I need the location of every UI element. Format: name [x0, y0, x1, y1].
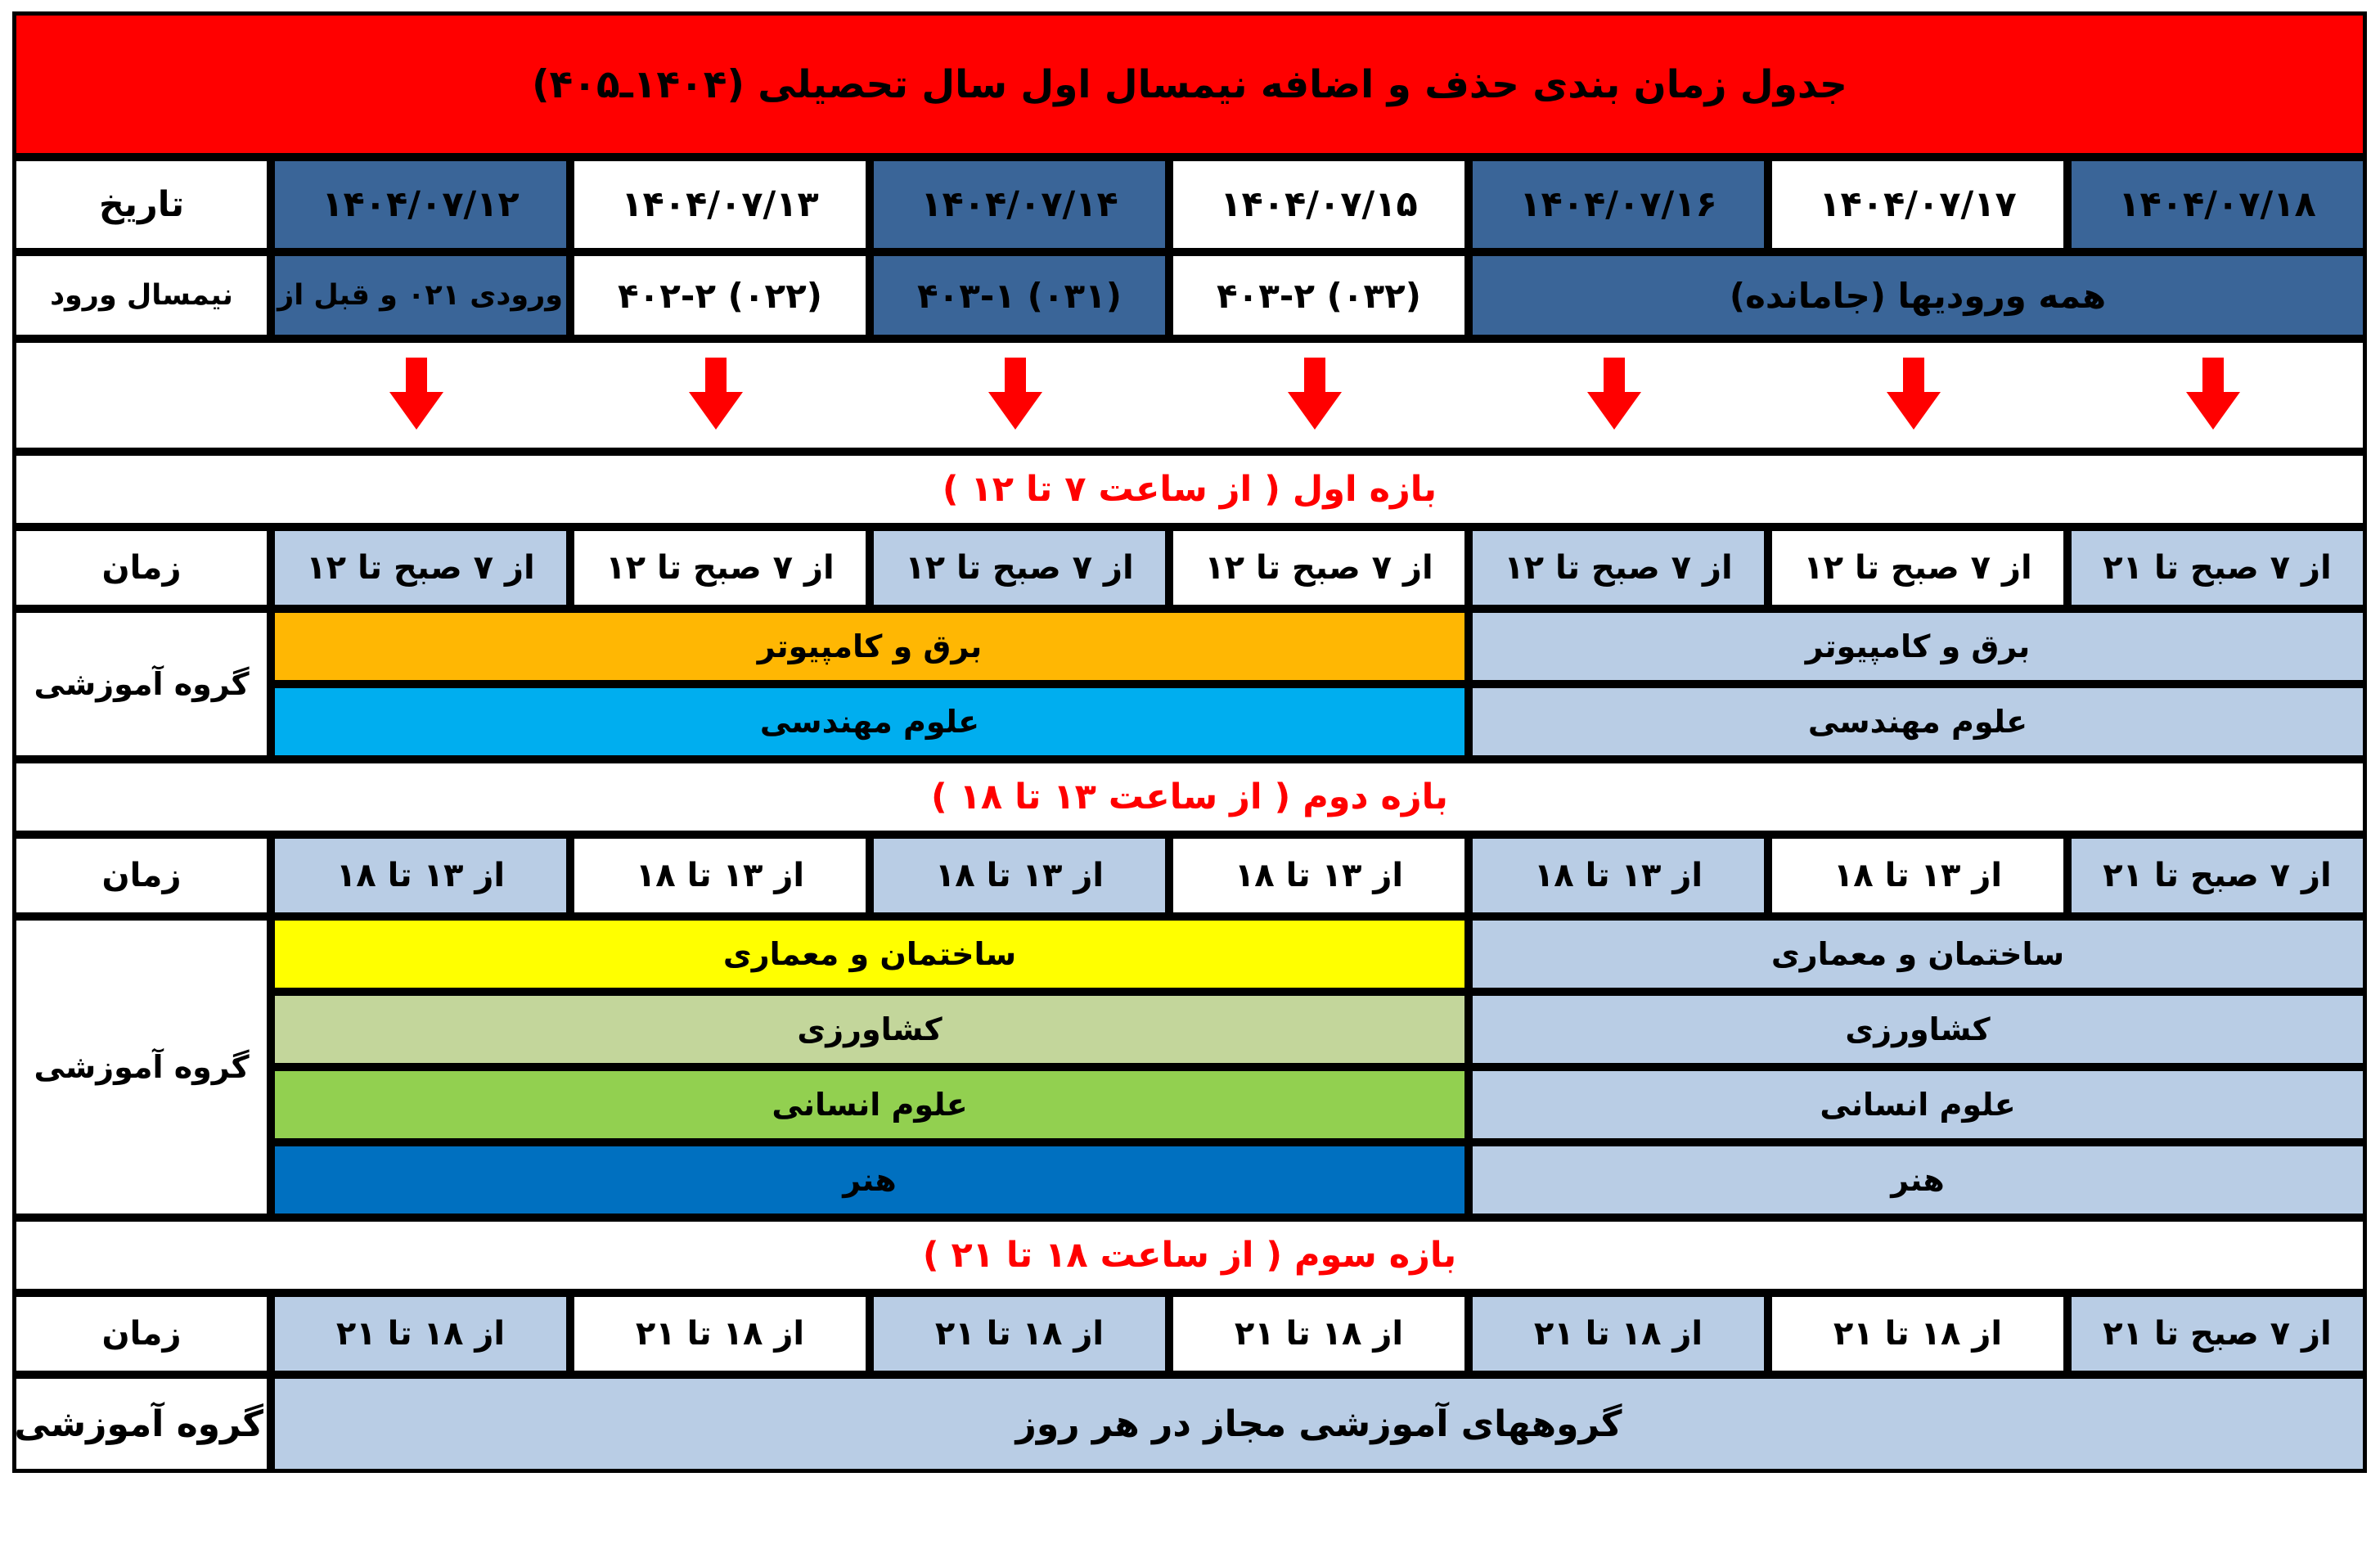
p2-time-cell-2: از ۱۳ تا ۱۸ [1768, 835, 2067, 916]
arrow-head [1288, 392, 1342, 430]
p1-g2-right: علوم مهندسی [271, 684, 1469, 759]
schedule-sheet: جدول زمان بندی حذف و اضافه نیمسال اول سا… [0, 11, 2380, 1558]
row-header-group-p2: گروه آموزشی [12, 916, 271, 1218]
period-2-banner-row: بازه دوم ( از ساعت ۱۳ تا ۱۸ ) [12, 759, 2367, 835]
p2-time-cell-6: از ۱۳ تا ۱۸ [570, 835, 870, 916]
p1-time-cell-1: از ۷ صبح تا ۲۱ [2067, 527, 2367, 609]
p1-g1-left: برق و کامپیوتر [1469, 609, 2367, 684]
entry-cell-031: (۰۳۱) ۴۰۳-۱ [870, 252, 1169, 339]
date-cell-6: ۱۴۰۴/۰۷/۱۳ [570, 157, 870, 252]
arrow-head [689, 392, 743, 430]
p2-time-cell-4: از ۱۳ تا ۱۸ [1169, 835, 1469, 916]
p2-time-cell-5: از ۱۳ تا ۱۸ [870, 835, 1169, 916]
p3-time-cell-4: از ۱۸ تا ۲۱ [1169, 1293, 1469, 1375]
p1-time-cell-3: از ۷ صبح تا ۱۲ [1469, 527, 1768, 609]
entry-cell-021: ورودی ۰۲۱ و قبل از آن [271, 252, 570, 339]
p1-group-row-1: برق و کامپیوتر برق و کامپیوتر گروه آموزش… [12, 609, 2367, 684]
row-header-time-p1: زمان [12, 527, 271, 609]
arrow-shaft [1604, 358, 1625, 395]
p1-time-cell-2: از ۷ صبح تا ۱۲ [1768, 527, 2067, 609]
arrows-container [12, 343, 2363, 448]
arrow-shaft [406, 358, 427, 395]
arrow-shaft [1903, 358, 1924, 395]
p2-g4-right: هنر [271, 1142, 1469, 1218]
p3-time-cell-5: از ۱۸ تا ۲۱ [870, 1293, 1169, 1375]
arrows-cell [12, 339, 2367, 452]
row-header-entry-semester: نیمسال ورود [12, 252, 271, 339]
date-cell-5: ۱۴۰۴/۰۷/۱۴ [870, 157, 1169, 252]
period-1-banner: بازه اول ( از ساعت ۷ تا ۱۲ ) [12, 452, 2367, 527]
p2-group-row-1: ساختمان و معماری ساختمان و معماری گروه آ… [12, 916, 2367, 992]
p2-time-cell-3: از ۱۳ تا ۱۸ [1469, 835, 1768, 916]
arrow-head [1587, 392, 1641, 430]
p2-group-row-2: کشاورزی کشاورزی [12, 992, 2367, 1067]
p2-group-row-4: هنر هنر [12, 1142, 2367, 1218]
date-cell-2: ۱۴۰۴/۰۷/۱۷ [1768, 157, 2067, 252]
arrow-head [988, 392, 1042, 430]
p3-bottom-note-row: گروههای آموزشی مجاز در هر روز گروه آموزش… [12, 1375, 2367, 1473]
p2-g1-right: ساختمان و معماری [271, 916, 1469, 992]
entry-merged-all-students: همه ورودیها (جامانده) [1469, 252, 2367, 339]
arrow-shaft [1005, 358, 1026, 395]
page-title: جدول زمان بندی حذف و اضافه نیمسال اول سا… [12, 11, 2367, 157]
row-header-time-p2: زمان [12, 835, 271, 916]
p1-g2-left: علوم مهندسی [1469, 684, 2367, 759]
p3-time-cell-7: از ۱۸ تا ۲۱ [271, 1293, 570, 1375]
p2-g2-left: کشاورزی [1469, 992, 2367, 1067]
schedule-table: جدول زمان بندی حذف و اضافه نیمسال اول سا… [12, 11, 2367, 1473]
row-header-date: تاریخ [12, 157, 271, 252]
entry-cell-022: (۰۲۲) ۴۰۲-۲ [570, 252, 870, 339]
period-1-time-row: از ۷ صبح تا ۲۱ از ۷ صبح تا ۱۲ از ۷ صبح ت… [12, 527, 2367, 609]
period-3-banner-row: بازه سوم ( از ساعت ۱۸ تا ۲۱ ) [12, 1218, 2367, 1293]
period-3-banner: بازه سوم ( از ساعت ۱۸ تا ۲۱ ) [12, 1218, 2367, 1293]
date-cell-4: ۱۴۰۴/۰۷/۱۵ [1169, 157, 1469, 252]
p2-g3-right: علوم انسانی [271, 1067, 1469, 1142]
p2-g4-left: هنر [1469, 1142, 2367, 1218]
arrow-shaft [705, 358, 727, 395]
period-1-banner-row: بازه اول ( از ساعت ۷ تا ۱۲ ) [12, 452, 2367, 527]
allowed-groups-note: گروههای آموزشی مجاز در هر روز [271, 1375, 2367, 1473]
p3-time-cell-6: از ۱۸ تا ۲۱ [570, 1293, 870, 1375]
row-header-group-p1: گروه آموزشی [12, 609, 271, 759]
entry-cell-032: (۰۳۲) ۴۰۳-۲ [1169, 252, 1469, 339]
period-2-banner: بازه دوم ( از ساعت ۱۳ تا ۱۸ ) [12, 759, 2367, 835]
arrow-head [389, 392, 443, 430]
date-row: ۱۴۰۴/۰۷/۱۸ ۱۴۰۴/۰۷/۱۷ ۱۴۰۴/۰۷/۱۶ ۱۴۰۴/۰۷… [12, 157, 2367, 252]
date-cell-1: ۱۴۰۴/۰۷/۱۸ [2067, 157, 2367, 252]
arrow-head [1887, 392, 1941, 430]
arrow-head [2186, 392, 2240, 430]
date-cell-3: ۱۴۰۴/۰۷/۱۶ [1469, 157, 1768, 252]
p1-group-row-2: علوم مهندسی علوم مهندسی [12, 684, 2367, 759]
arrow-shaft [1304, 358, 1325, 395]
p1-time-cell-5: از ۷ صبح تا ۱۲ [870, 527, 1169, 609]
row-header-group-p3: گروه آموزشی [12, 1375, 271, 1473]
p3-time-cell-2: از ۱۸ تا ۲۱ [1768, 1293, 2067, 1375]
period-3-time-row: از ۷ صبح تا ۲۱ از ۱۸ تا ۲۱ از ۱۸ تا ۲۱ ا… [12, 1293, 2367, 1375]
p2-group-row-3: علوم انسانی علوم انسانی [12, 1067, 2367, 1142]
p1-g1-right: برق و کامپیوتر [271, 609, 1469, 684]
p1-time-cell-7: از ۷ صبح تا ۱۲ [271, 527, 570, 609]
p3-time-cell-3: از ۱۸ تا ۲۱ [1469, 1293, 1768, 1375]
p2-g3-left: علوم انسانی [1469, 1067, 2367, 1142]
p3-time-cell-1: از ۷ صبح تا ۲۱ [2067, 1293, 2367, 1375]
p2-g2-right: کشاورزی [271, 992, 1469, 1067]
period-2-time-row: از ۷ صبح تا ۲۱ از ۱۳ تا ۱۸ از ۱۳ تا ۱۸ ا… [12, 835, 2367, 916]
date-cell-7: ۱۴۰۴/۰۷/۱۲ [271, 157, 570, 252]
p2-time-cell-1: از ۷ صبح تا ۲۱ [2067, 835, 2367, 916]
entry-semester-row: همه ورودیها (جامانده) (۰۳۲) ۴۰۳-۲ (۰۳۱) … [12, 252, 2367, 339]
p1-time-cell-6: از ۷ صبح تا ۱۲ [570, 527, 870, 609]
row-header-time-p3: زمان [12, 1293, 271, 1375]
arrow-shaft [2202, 358, 2224, 395]
p2-time-cell-7: از ۱۳ تا ۱۸ [271, 835, 570, 916]
p1-time-cell-4: از ۷ صبح تا ۱۲ [1169, 527, 1469, 609]
p2-g1-left: ساختمان و معماری [1469, 916, 2367, 992]
arrows-row [12, 339, 2367, 452]
title-row: جدول زمان بندی حذف و اضافه نیمسال اول سا… [12, 11, 2367, 157]
